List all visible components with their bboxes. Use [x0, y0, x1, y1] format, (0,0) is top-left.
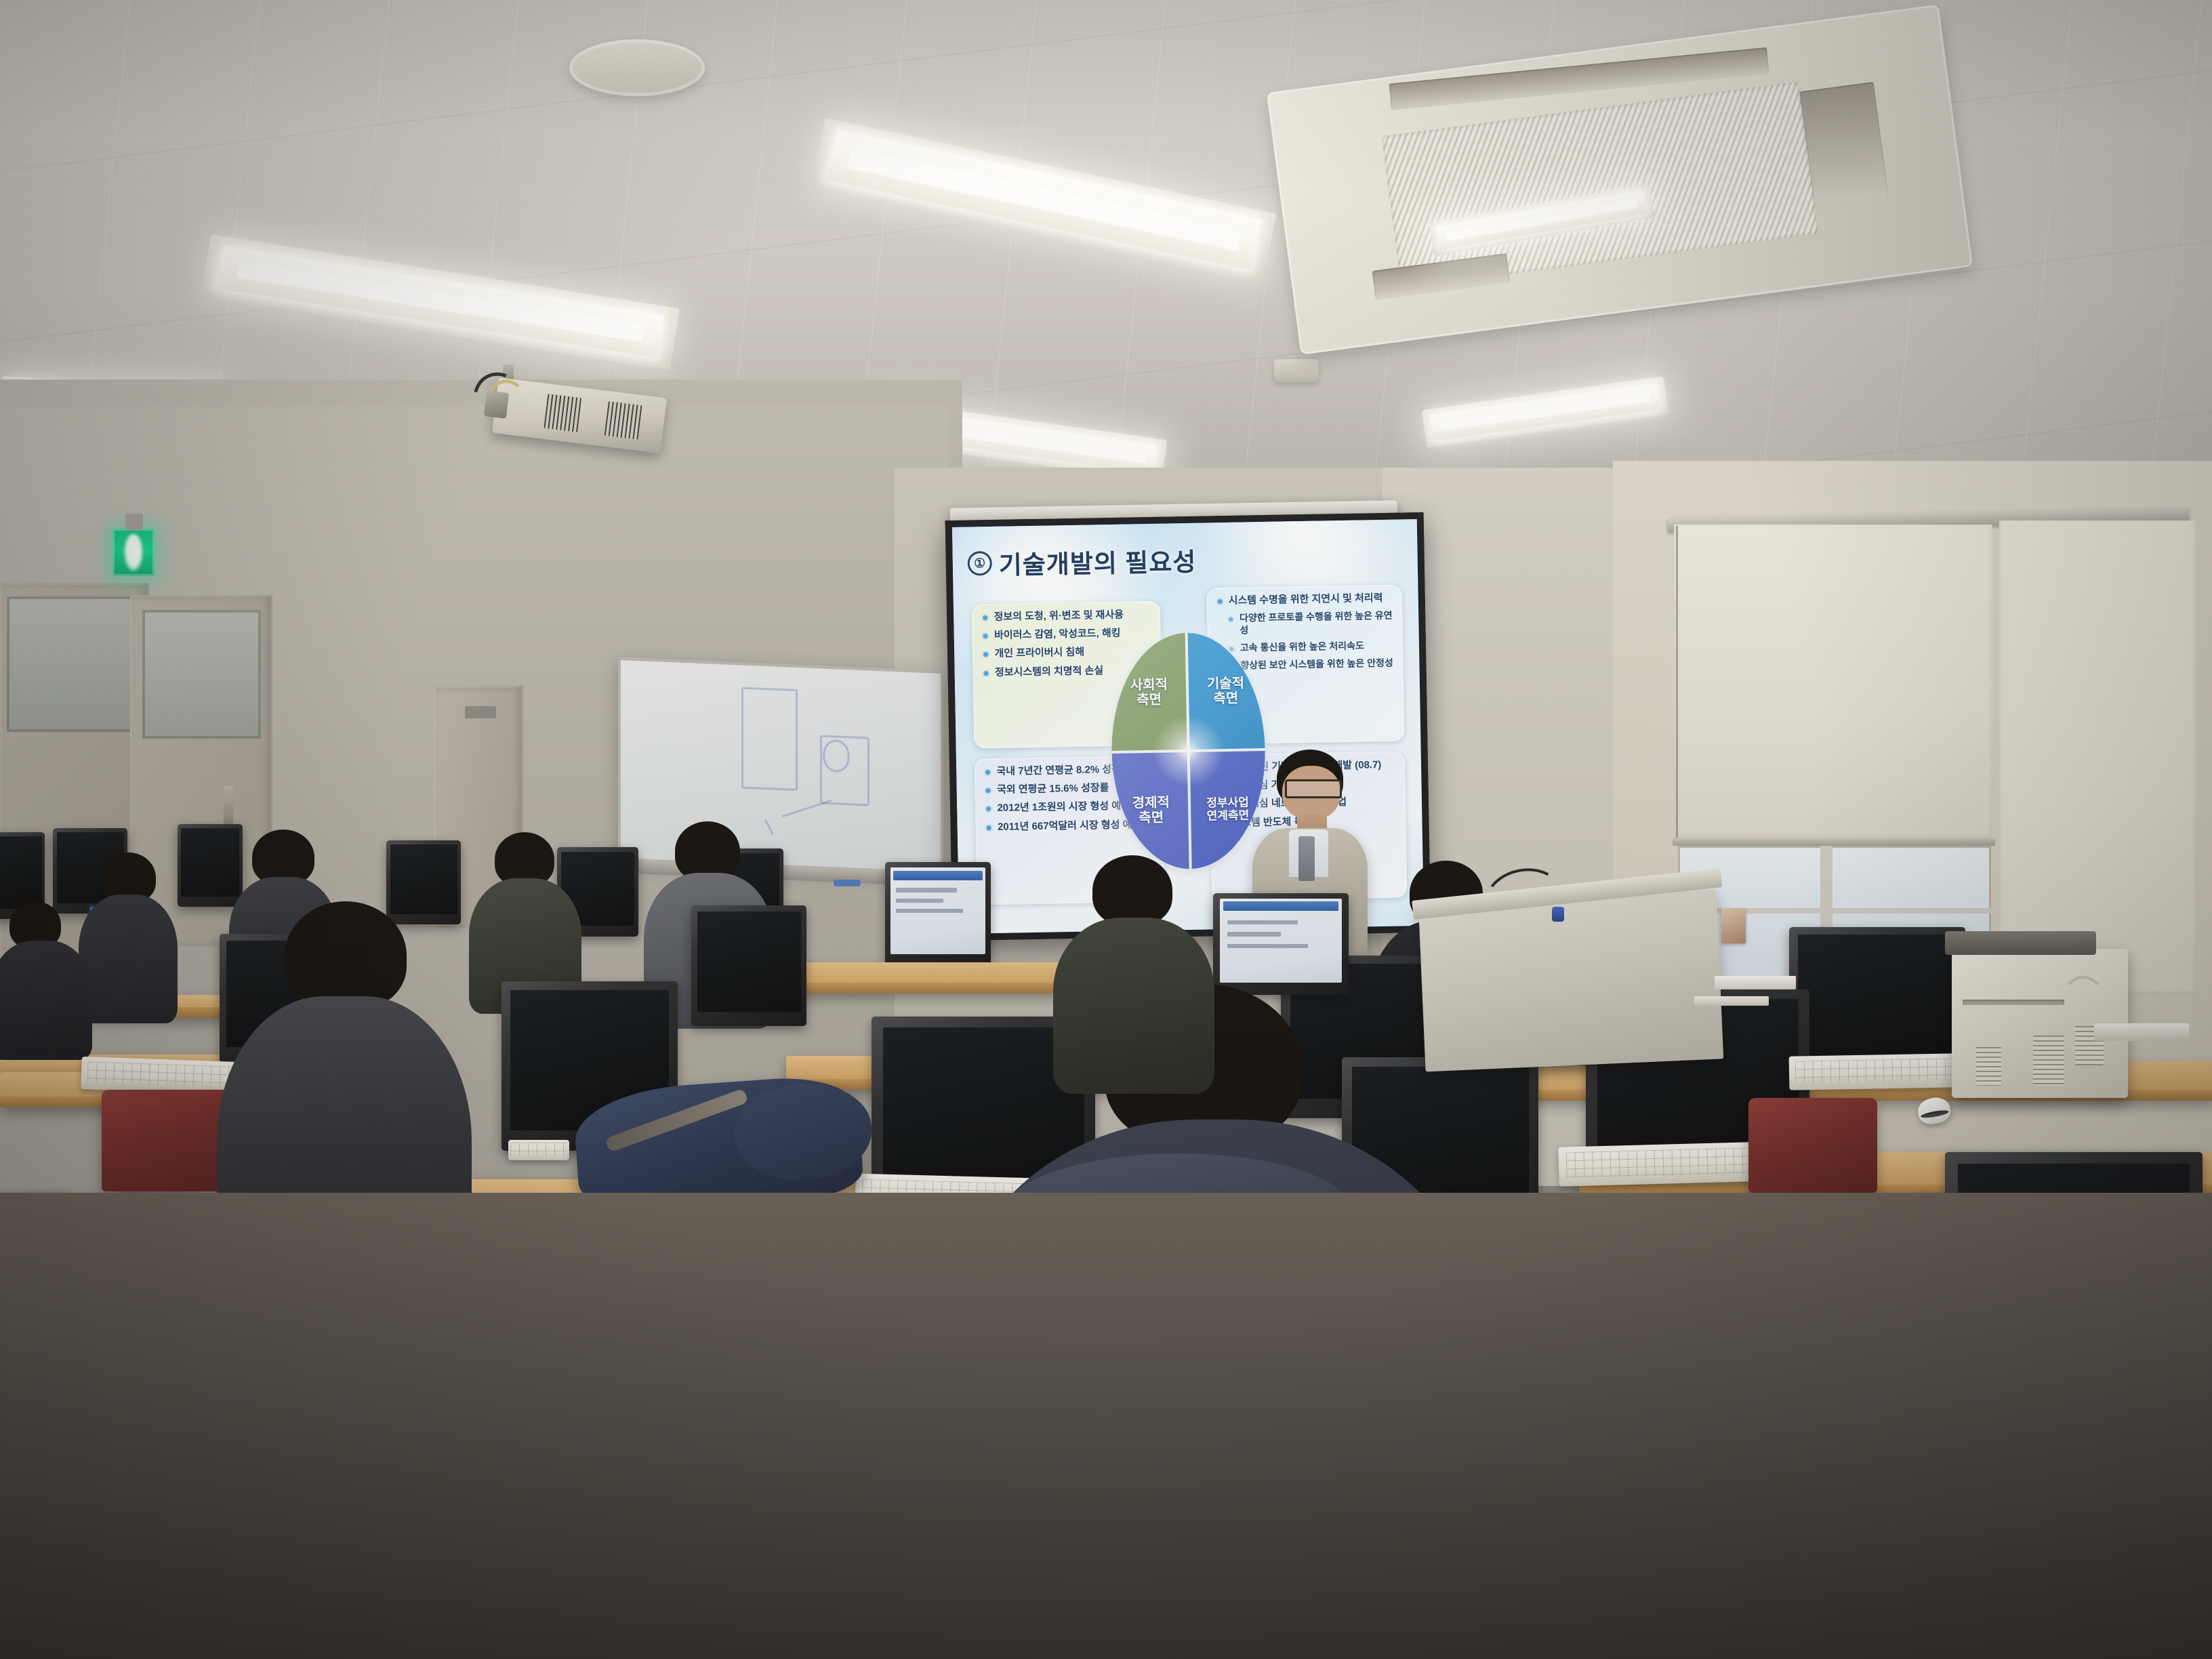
monitor-back-center-lit[interactable] [885, 862, 991, 966]
podium-papers[interactable] [1715, 976, 1796, 989]
pie-quadrant-technical: 기술적 측면 [1187, 632, 1265, 751]
pie-label-social: 사회적 측면 [1130, 677, 1168, 708]
student-mid-right-seated [1057, 855, 1206, 1086]
pie-label-economic: 경제적 측면 [1132, 795, 1170, 826]
pie-quadrant-social: 사회적 측면 [1109, 633, 1188, 752]
printer-paper-tray[interactable] [2094, 1023, 2189, 1041]
door-sign-plate [465, 706, 496, 718]
door-window-pane [142, 610, 261, 739]
podium-photo-card [1721, 908, 1746, 943]
window-area [1654, 501, 2196, 976]
whiteboard-marker[interactable] [834, 880, 861, 886]
bullet-item: 시스템 수명을 위한 지연시 및 처리력 [1216, 592, 1392, 608]
blind-pull-cord[interactable] [1676, 526, 1678, 844]
window-blind-right[interactable] [1999, 520, 2196, 995]
bullet-item: 정보의 도청, 위·변조 및 재사용 [981, 608, 1151, 624]
pie-label-technical: 기술적 측면 [1207, 676, 1245, 707]
door-handle-icon[interactable] [224, 786, 233, 825]
window-blind-left[interactable] [1674, 525, 1992, 840]
door-window-pane [7, 596, 136, 732]
monitor-laptop-podium[interactable] [1213, 893, 1349, 995]
monitor-mid-left-2[interactable] [691, 905, 806, 1026]
ceiling-diffuser-icon [569, 39, 705, 96]
classroom-photo: ① 기술개발의 필요성 정보의 도청, 위·변조 및 재사용 바이러스 감염, … [0, 0, 2212, 1659]
student-back-left-a [80, 853, 175, 1022]
blind-bottom-bar [1673, 838, 1995, 846]
keyboard-mid-left[interactable] [508, 1140, 569, 1160]
microphone-head-icon [1552, 907, 1564, 922]
pie-quadrant-economic: 경제적 측면 [1111, 751, 1190, 870]
slide-number-marker: ① [967, 551, 992, 576]
podium [1418, 890, 1723, 1072]
slide-title: 기술개발의 필요성 [998, 541, 1197, 581]
printer-side-cable [2060, 976, 2106, 1036]
student-back-left-b [0, 901, 87, 1057]
slide-title-row: ① 기술개발의 필요성 [967, 541, 1197, 582]
emergency-exit-sign [112, 529, 155, 576]
ceiling-vent-small-icon [1274, 359, 1319, 382]
floor [0, 1193, 2212, 1659]
podium-document-stack[interactable] [1694, 996, 1769, 1006]
glasses-icon [1285, 779, 1342, 798]
presenter-tie [1298, 836, 1315, 881]
exit-sign-mount [125, 514, 143, 530]
chair-right-mid[interactable] [1748, 1098, 1877, 1193]
